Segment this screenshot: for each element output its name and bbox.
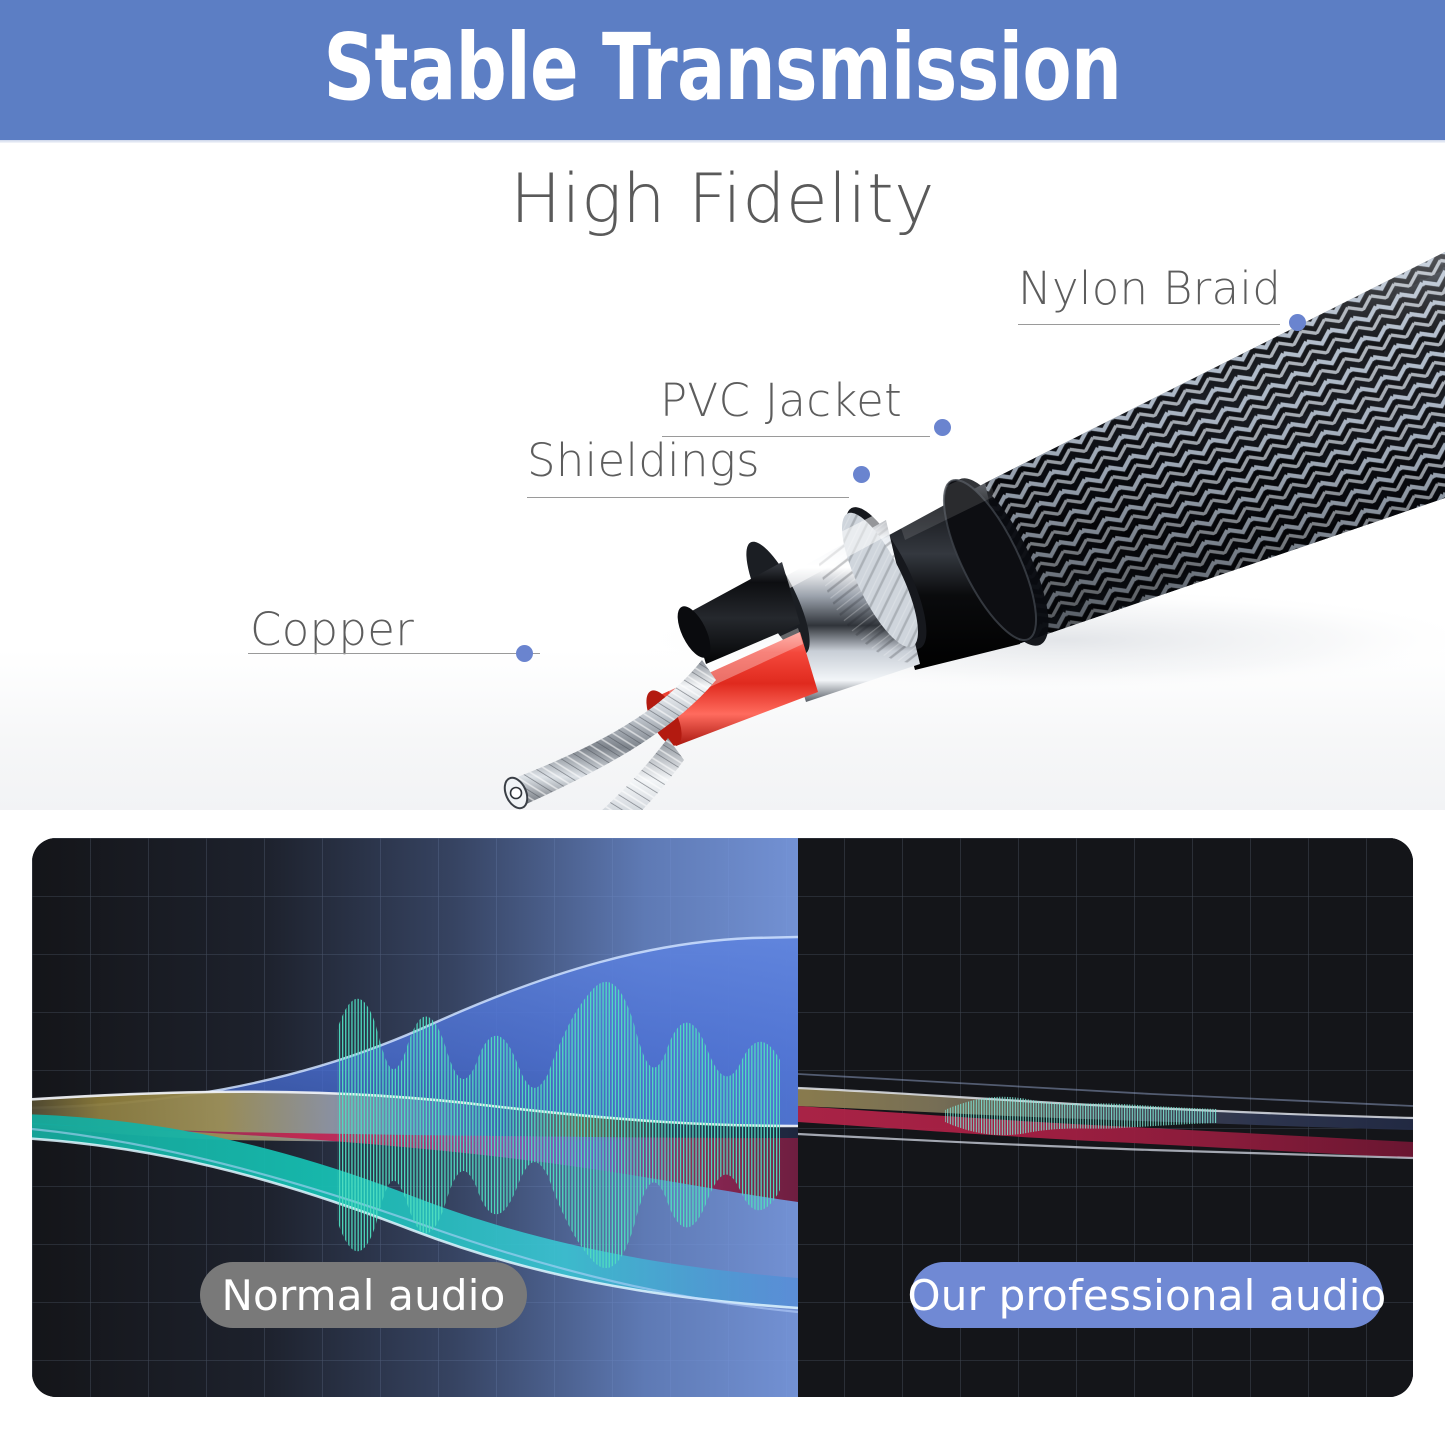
header-divider — [0, 140, 1445, 143]
professional-audio-pill: Our professional audio — [911, 1262, 1383, 1328]
callout-label-copper: Copper — [250, 603, 414, 656]
callout-dot-shieldings — [853, 466, 870, 483]
normal-audio-pill: Normal audio — [200, 1262, 527, 1328]
professional-audio-label: Our professional audio — [908, 1271, 1387, 1320]
callout-rule-copper — [248, 653, 540, 654]
callout-label-pvc-jacket: PVC Jacket — [660, 374, 902, 427]
callout-label-shieldings: Shieldings — [527, 434, 760, 487]
callout-label-nylon-braid: Nylon Braid — [1018, 262, 1281, 315]
subtitle: High Fidelity — [0, 160, 1445, 239]
callout-rule-shieldings — [527, 497, 849, 498]
normal-audio-label: Normal audio — [221, 1271, 505, 1320]
page-title: Stable Transmission — [324, 22, 1122, 114]
cable-svg — [0, 240, 1445, 810]
cable-cutaway-illustration — [0, 240, 1445, 810]
header-banner: Stable Transmission — [0, 0, 1445, 140]
callout-dot-nylon-braid — [1289, 314, 1306, 331]
callout-dot-copper — [516, 645, 533, 662]
callout-rule-nylon-braid — [1018, 324, 1280, 325]
callout-dot-pvc-jacket — [934, 419, 951, 436]
